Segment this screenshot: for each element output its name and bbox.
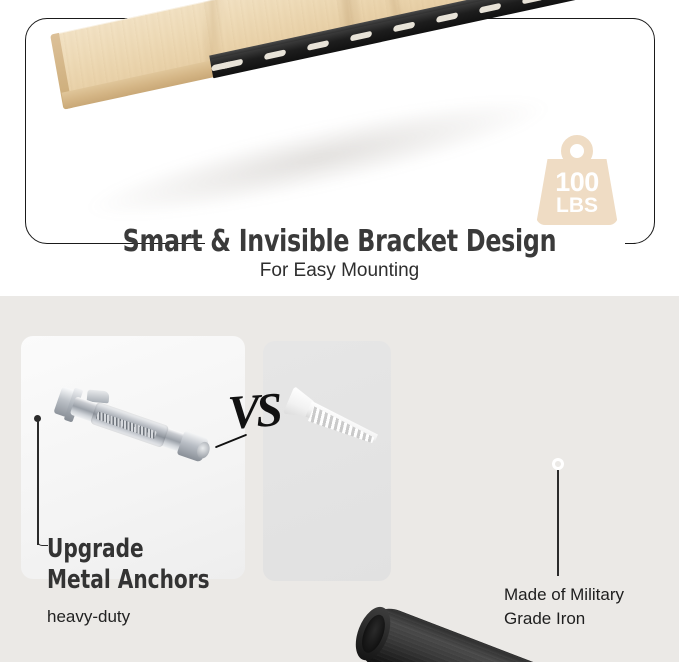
subheadline-text: For Easy Mounting (0, 260, 679, 282)
bracket-slot (350, 31, 372, 42)
right-callout-leader-line (557, 470, 559, 576)
bracket-slot (479, 3, 501, 14)
shelf-shadow (77, 77, 559, 239)
bracket-slot (522, 0, 544, 4)
right-callout-line2: Grade Iron (504, 607, 585, 631)
product-feature-image: 100 LBS Smart & Invisible Bracket Design… (0, 0, 679, 662)
bracket-slot (436, 12, 458, 23)
left-callout-title-line1: Upgrade (47, 535, 144, 563)
left-callout-subtitle: heavy-duty (47, 607, 130, 627)
right-callout-line1: Made of Military (504, 583, 624, 607)
vs-label: VS (226, 386, 280, 437)
bracket-slot (393, 21, 415, 32)
bracket-slot (211, 61, 233, 72)
headline-text: Smart & Invisible Bracket Design (41, 224, 639, 259)
left-callout-leader-line (37, 421, 39, 545)
pipe-marker-ring (552, 458, 564, 470)
bracket-slot (264, 49, 286, 60)
weight-capacity-badge: 100 LBS (528, 131, 626, 227)
left-callout-title-line2: Metal Anchors (47, 566, 210, 594)
badge-weight-number: 100 (528, 169, 626, 196)
bracket-slot (307, 40, 329, 51)
badge-weight-unit: LBS (528, 195, 626, 216)
top-feature-panel: 100 LBS Smart & Invisible Bracket Design… (0, 0, 679, 296)
plastic-anchor-panel (263, 341, 391, 581)
